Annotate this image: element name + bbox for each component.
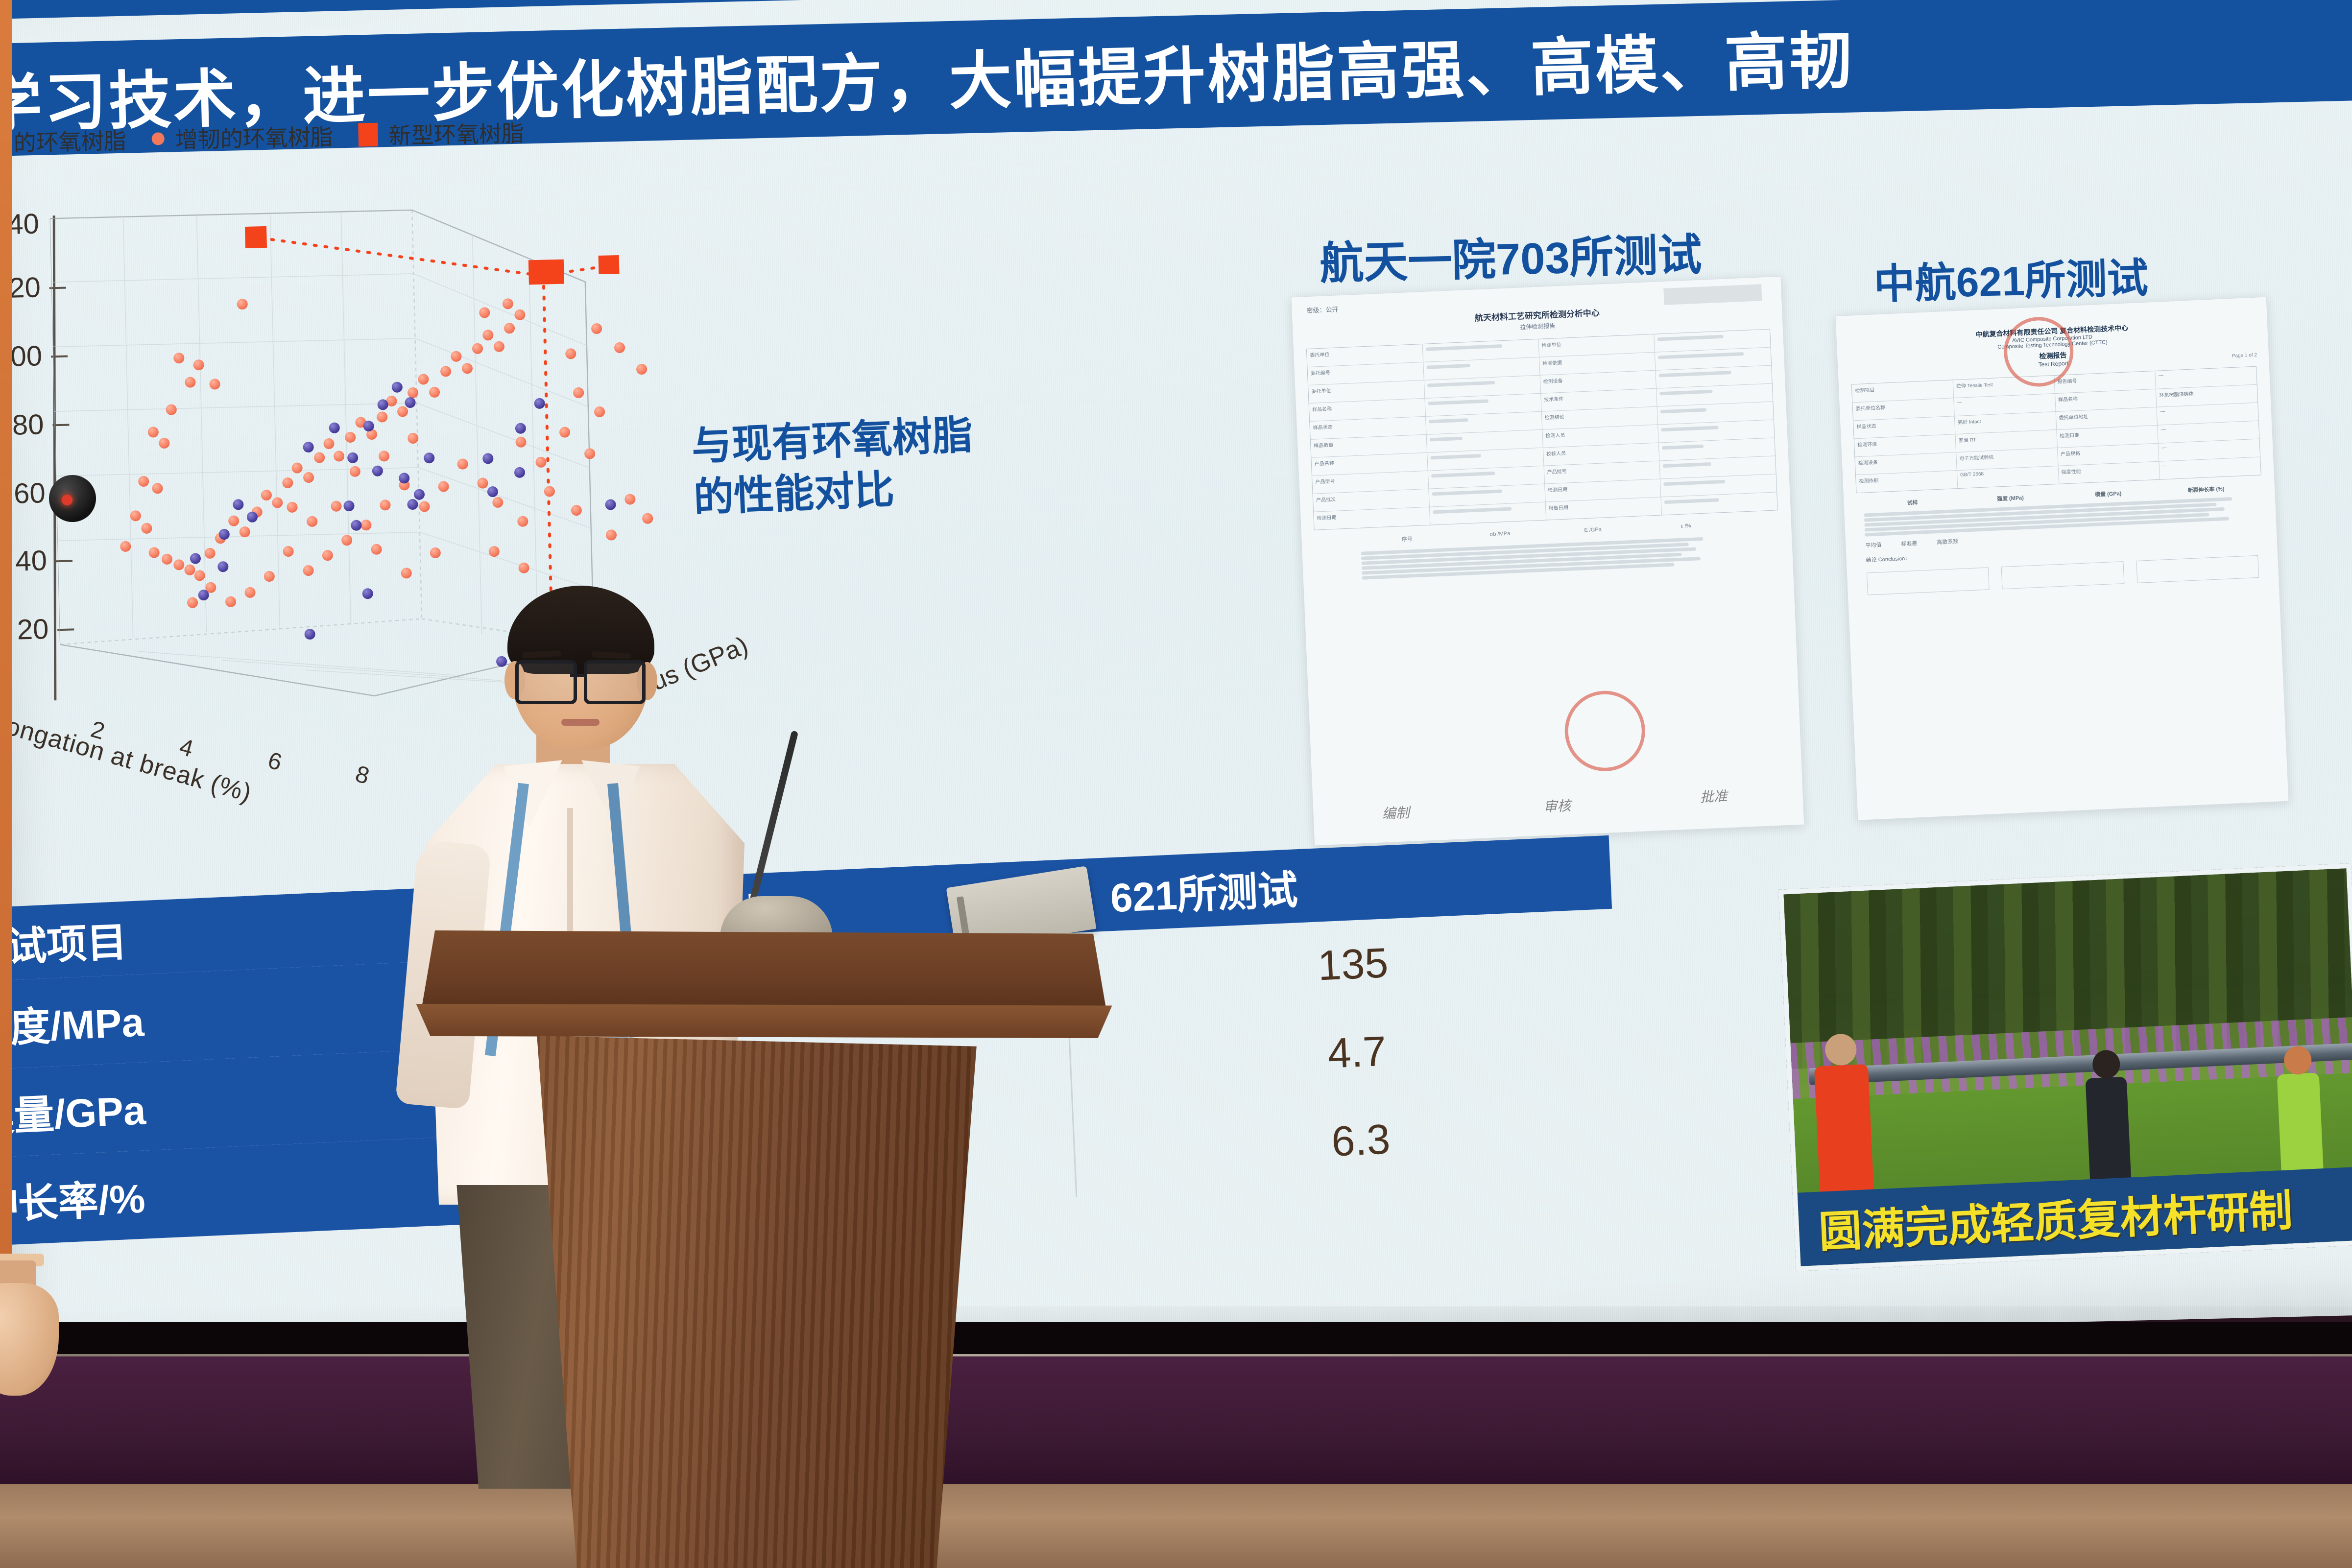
report-heading-621: 中航621所测试 [1873,245,2149,310]
doc621-footer-box [2136,555,2259,583]
stage-shadow [0,1322,2352,1356]
slide-annotation: 与现有环氧树脂 的性能对比 [691,410,976,524]
results-row1-621: 4.7 [1095,1017,1619,1088]
microphone-head-icon [49,475,96,522]
glasses-bridge-icon [570,674,585,677]
legend-label-2: 新型环氧树脂 [388,116,524,150]
doc703-result-col-2: E /GPa [1546,525,1640,537]
doc703-signature-0: 编制 [1382,802,1410,823]
legend-item-2: 新型环氧树脂 [358,116,524,151]
y-tick-60: 60 [13,476,46,510]
photo-caption-text: 圆满完成轻质复材杆研制 [1817,1176,2294,1260]
data-point-new-resin-1 [528,260,564,285]
doc621-res-col-1: 强度 (MPa) [1961,492,2060,504]
report-heading-703: 航天一院703所测试 [1319,219,1703,291]
podium-wood-grain [507,1036,1007,1568]
microphone-led-icon [62,495,72,505]
doc621-summary-0: 平均值 [1865,541,1882,549]
doc703-result-col-0: 序号 [1360,533,1454,545]
annotation-line-2: 的性能对比 [693,461,976,524]
stage-front-panel [0,1356,2352,1484]
y-tick-20: 20 [17,613,49,646]
legend-item-0: 现有的环氧树脂 [0,123,126,159]
doc621-footer-box [2001,561,2124,589]
legend-marker-circle-orange-icon [151,132,164,145]
x-tick-6: 6 [265,747,285,776]
vase-body [0,1283,59,1396]
doc621-page-note: Page 1 of 2 [2232,353,2257,359]
x-tick-8: 8 [353,760,373,790]
podium-column [507,1036,1007,1568]
podium [421,930,1107,1568]
doc703-result-col-3: ε /% [1639,521,1733,533]
doc703-official-stamp-icon [1563,689,1647,773]
decorative-vase [0,1254,59,1415]
stage-floor [0,1484,2352,1568]
y-tick-40: 40 [15,544,48,578]
x-tick-4: 4 [176,733,196,762]
doc621-field-grid: 检测项目拉伸 Tensile Test报告编号— 委托单位名称—样品名称环氧树脂… [1851,366,2261,494]
field-photo: 圆满完成轻质复材杆研制 [1778,863,2352,1271]
doc621-res-col-3: 断裂伸长率 (%) [2157,483,2256,496]
data-point-new-resin-2 [599,255,620,274]
podium-lip [409,1004,1119,1038]
test-report-document-703: 密级：公开 航天材料工艺研究所检测分析中心 拉伸检测报告 委托单位检测单位 委托… [1291,276,1804,846]
results-row0-621: 135 [1091,928,1615,1000]
legend-label-1: 增韧的环氧树脂 [175,119,333,155]
doc703-result-col-1: σb /MPa [1453,529,1547,541]
data-point-new-resin-0 [245,226,267,248]
doc621-footer-box [1867,567,1990,595]
glasses-lens-right-icon [584,660,646,704]
doc621-res-col-2: 模量 (GPa) [2059,488,2158,500]
doc621-label-cn-5: 检测依据 [1856,471,1958,493]
test-report-document-621: 中航复合材料有限责任公司 复合材料检测技术中心 AVIC Composite C… [1835,297,2289,821]
legend-label-0: 现有的环氧树脂 [0,123,126,159]
chart-x-axis-label: Elongation at break (%) [0,705,255,808]
doc621-res-col-0: 试样 [1863,497,1962,509]
doc621-rvalue-5: — [2160,457,2261,479]
projection-screen: 树脂结构设计 …学习技术，进一步优化树脂配方，大幅提升树脂高强、高模、高韧 现有… [0,0,2352,1371]
legend-item-1: 增韧的环氧树脂 [151,119,333,155]
doc703-security-note: 密级：公开 [1306,304,1339,315]
podium-top-surface [421,930,1107,1014]
doc621-summary-1: 标准差 [1901,539,1918,547]
speaker-mouth [561,719,600,726]
doc621-value-5: GB/T 2568 [1957,466,2059,488]
legend-marker-square-red-icon [358,123,378,147]
results-row2-621: 6.3 [1099,1105,1623,1176]
presentation-scene: 树脂结构设计 …学习技术，进一步优化树脂配方，大幅提升树脂高强、高模、高韧 现有… [0,0,2352,1568]
left-wall-strip [0,0,12,1401]
doc703-signature-2: 批准 [1700,785,1728,806]
glasses-lens-left-icon [515,660,577,704]
doc703-signature-1: 审核 [1543,795,1571,816]
y-tick-80: 80 [12,408,44,442]
doc703-field-grid: 委托单位检测单位 委托编号检测依据 委托单位检测设备 样品名称技术条件 样品状态… [1306,329,1778,530]
doc621-summary-2: 离散系数 [1937,537,1959,546]
